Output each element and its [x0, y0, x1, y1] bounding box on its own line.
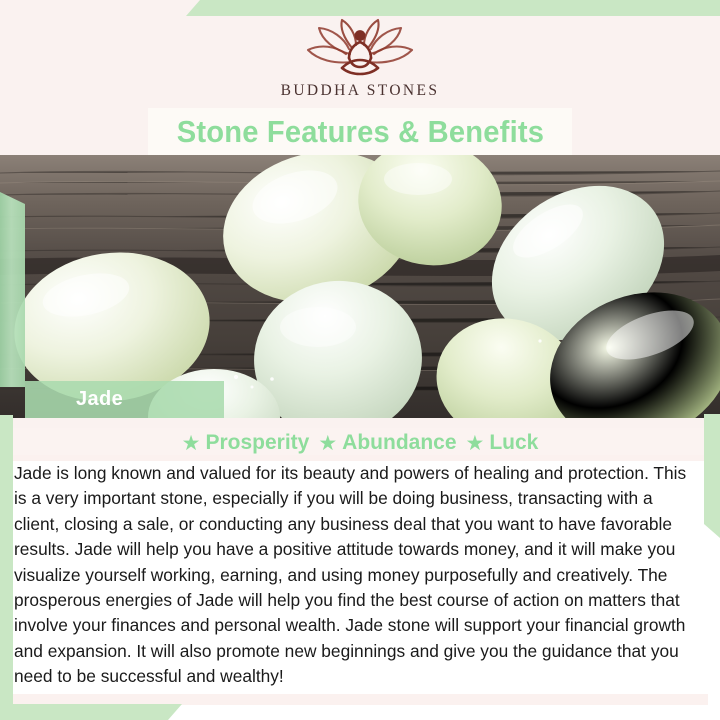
lotus-meditation-figure-icon	[294, 18, 426, 80]
jade-stones-photo-illustration	[0, 155, 720, 418]
description-top-divider	[13, 455, 708, 461]
hero-image	[0, 155, 720, 418]
benefit-label: Prosperity	[205, 431, 309, 455]
description-panel: Jade is long known and valued for its be…	[0, 458, 720, 720]
benefit-label: Luck	[489, 431, 538, 455]
infographic-page: BUDDHA STONES Stone Features & Benefits	[0, 0, 720, 720]
benefit-item-luck: ★ Luck	[466, 431, 539, 455]
star-icon: ★	[182, 433, 201, 454]
description-right-accent-strip	[704, 414, 720, 538]
description-bottom-divider	[13, 694, 708, 705]
brand-block: BUDDHA STONES	[0, 18, 720, 108]
benefit-item-abundance: ★ Abundance	[318, 431, 456, 455]
brand-name: BUDDHA STONES	[281, 82, 440, 100]
description-text: Jade is long known and valued for its be…	[14, 461, 698, 690]
page-title-band: Stone Features & Benefits	[148, 108, 572, 155]
stone-name-chip: Jade	[25, 381, 224, 418]
bottom-accent-bar	[0, 704, 182, 720]
hero-left-accent-strip	[0, 192, 25, 387]
star-icon: ★	[318, 433, 337, 454]
benefit-item-prosperity: ★ Prosperity	[182, 431, 310, 455]
star-icon: ★	[466, 433, 485, 454]
top-accent-bar	[186, 0, 720, 16]
page-title: Stone Features & Benefits	[176, 114, 543, 150]
benefits-row: ★ Prosperity ★ Abundance ★ Luck	[0, 428, 720, 458]
description-left-accent-strip	[0, 415, 13, 720]
benefit-label: Abundance	[342, 431, 456, 455]
stone-name-label: Jade	[76, 388, 123, 411]
